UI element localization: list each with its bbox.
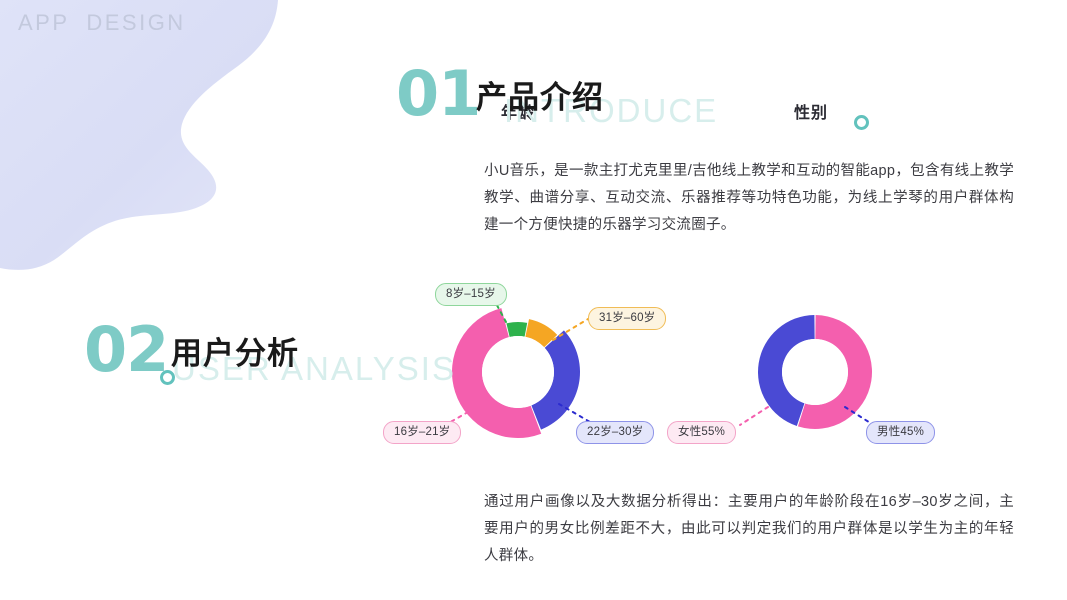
section-title-cn-01: 产品介绍 (476, 72, 604, 117)
section-title-cn-02: 用户分析 (171, 328, 299, 373)
section-dot-icon-01 (854, 115, 869, 130)
age-label-8-15[interactable]: 8岁–15岁 (435, 283, 507, 306)
background-blob-decoration (0, 0, 360, 300)
summary-paragraph: 通过用户画像以及大数据分析得出：主要用户的年龄阶段在16岁–30岁之间，主要用户… (484, 489, 1014, 570)
donut-center-hole (482, 336, 554, 408)
age-label-22-30[interactable]: 22岁–30岁 (576, 421, 654, 444)
gender-label-female[interactable]: 女性55% (667, 421, 736, 444)
gender-label-male[interactable]: 男性45% (866, 421, 935, 444)
slide-canvas: APP DESIGN 01 INTRODUCE 产品介绍 小U音乐，是一款主打尤… (0, 0, 1067, 600)
age-label-31-60[interactable]: 31岁–60岁 (588, 307, 666, 330)
donut-slice[interactable] (506, 322, 527, 337)
section-number-01: 01 (396, 62, 480, 126)
gender-chart-center-label: 性别 (786, 99, 836, 123)
intro-paragraph: 小U音乐，是一款主打尤克里里/吉他线上教学和互动的智能app，包含有线上教学教学… (484, 158, 1014, 239)
gender-donut-chart (735, 290, 895, 480)
donut-center-hole (782, 339, 848, 405)
watermark-app-design: APP DESIGN (18, 10, 186, 36)
section-header-01: 01 INTRODUCE 产品介绍 (396, 62, 796, 142)
age-label-16-21[interactable]: 16岁–21岁 (383, 421, 461, 444)
